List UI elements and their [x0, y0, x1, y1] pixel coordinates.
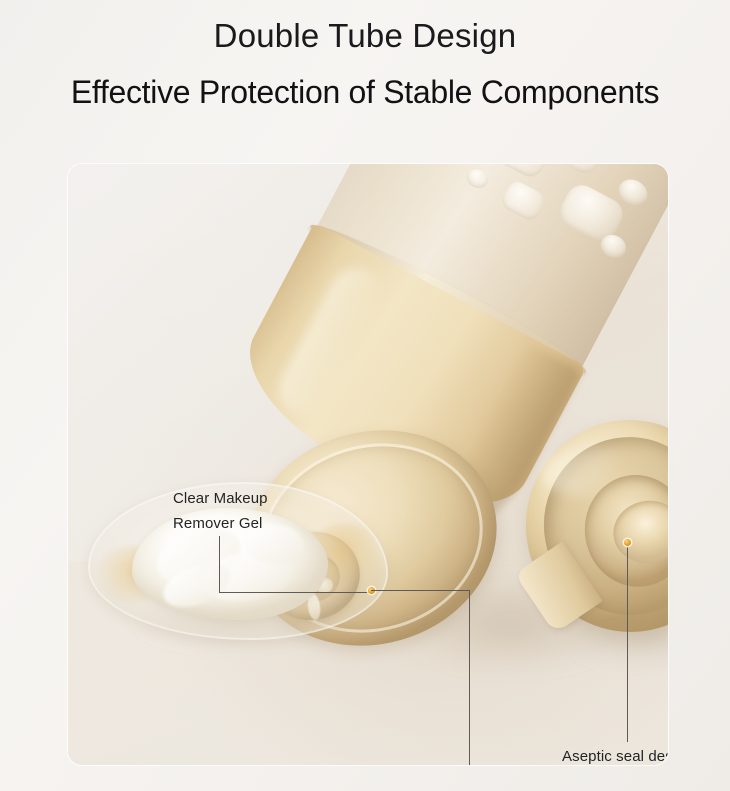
leader-line-gel-vertical [219, 536, 220, 593]
callout-line-1: Clear Makeup [173, 490, 268, 507]
callout-line-2: Remover Gel [173, 515, 262, 532]
foam-bubble [549, 164, 607, 177]
callout-clear-makeup-remover-gel: Clear MakeupRemover Gel [173, 486, 268, 536]
marker-dot-aseptic [624, 539, 631, 546]
leader-line-cleanser-vertical [469, 590, 470, 765]
page-subtitle: Effective Protection of Stable Component… [0, 72, 730, 112]
foam-bubble [463, 165, 491, 191]
heading-block: Double Tube Design Effective Protection … [0, 0, 730, 130]
page-title: Double Tube Design [0, 16, 730, 56]
foam-bubble [499, 178, 548, 223]
callout-aseptic-seal-design: Aseptic seal design [562, 744, 668, 765]
callout-line-1: Aseptic seal design [562, 748, 668, 765]
infographic-page: Double Tube Design Effective Protection … [0, 0, 730, 791]
foam-bubble [488, 164, 554, 181]
leader-line-cleanser-horizontal [371, 590, 470, 591]
leader-line-gel-horizontal [219, 592, 372, 593]
product-photo-panel: Clear MakeupRemover Gel White CleansingC… [68, 164, 668, 765]
leader-line-aseptic-vertical [627, 543, 628, 742]
